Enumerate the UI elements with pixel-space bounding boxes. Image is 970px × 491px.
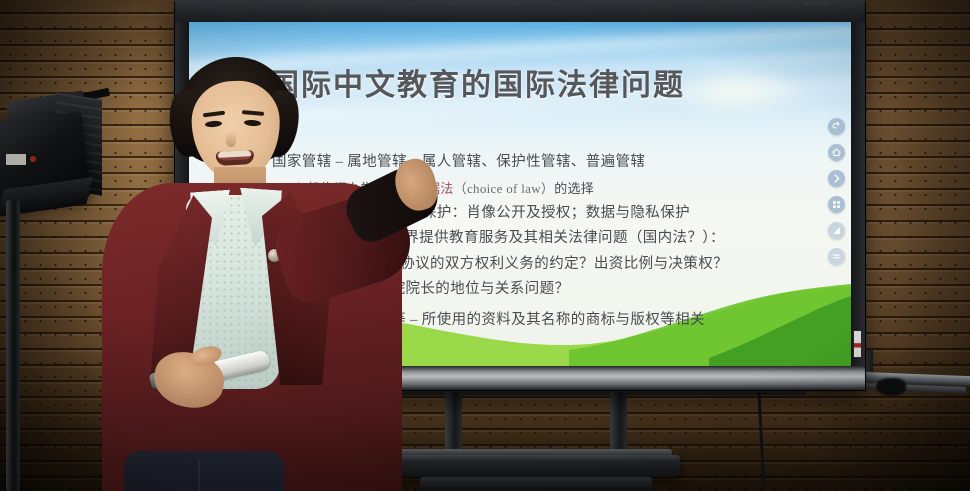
stand-shelf <box>392 455 680 477</box>
menu-list-icon[interactable] <box>828 248 845 265</box>
bullet-text-post: 的选择 <box>554 181 594 196</box>
presenter-person <box>46 55 406 491</box>
back-icon[interactable] <box>828 118 845 135</box>
display-side-sticker <box>853 330 862 358</box>
rig-power-indicator <box>30 156 36 162</box>
bullet-text-latin: （choice of law） <box>454 181 555 196</box>
rig-label-sticker <box>6 154 26 165</box>
presenter-nose <box>226 131 236 147</box>
presenter-trouser-seam <box>198 459 200 491</box>
stand-base <box>420 477 652 491</box>
side-rail-bracket <box>876 378 906 396</box>
display-brand-label: MAXHUB <box>804 1 829 7</box>
presenter-trousers <box>124 451 284 491</box>
apps-grid-icon[interactable] <box>828 196 845 213</box>
annotate-pen-icon[interactable] <box>828 222 845 239</box>
lecture-room-photo: 国际中文教育的国际法律问题 机构 国家管辖 – 属地管辖、属人管辖、保护性管辖、… <box>0 0 970 491</box>
rig-tripod-pole <box>6 200 20 491</box>
home-icon[interactable] <box>828 144 845 161</box>
display-bezel-right <box>851 22 865 366</box>
display-bezel-top: MAXHUB <box>175 0 865 22</box>
onscreen-tool-dock[interactable] <box>828 118 845 265</box>
forward-chevron-icon[interactable] <box>828 170 845 187</box>
